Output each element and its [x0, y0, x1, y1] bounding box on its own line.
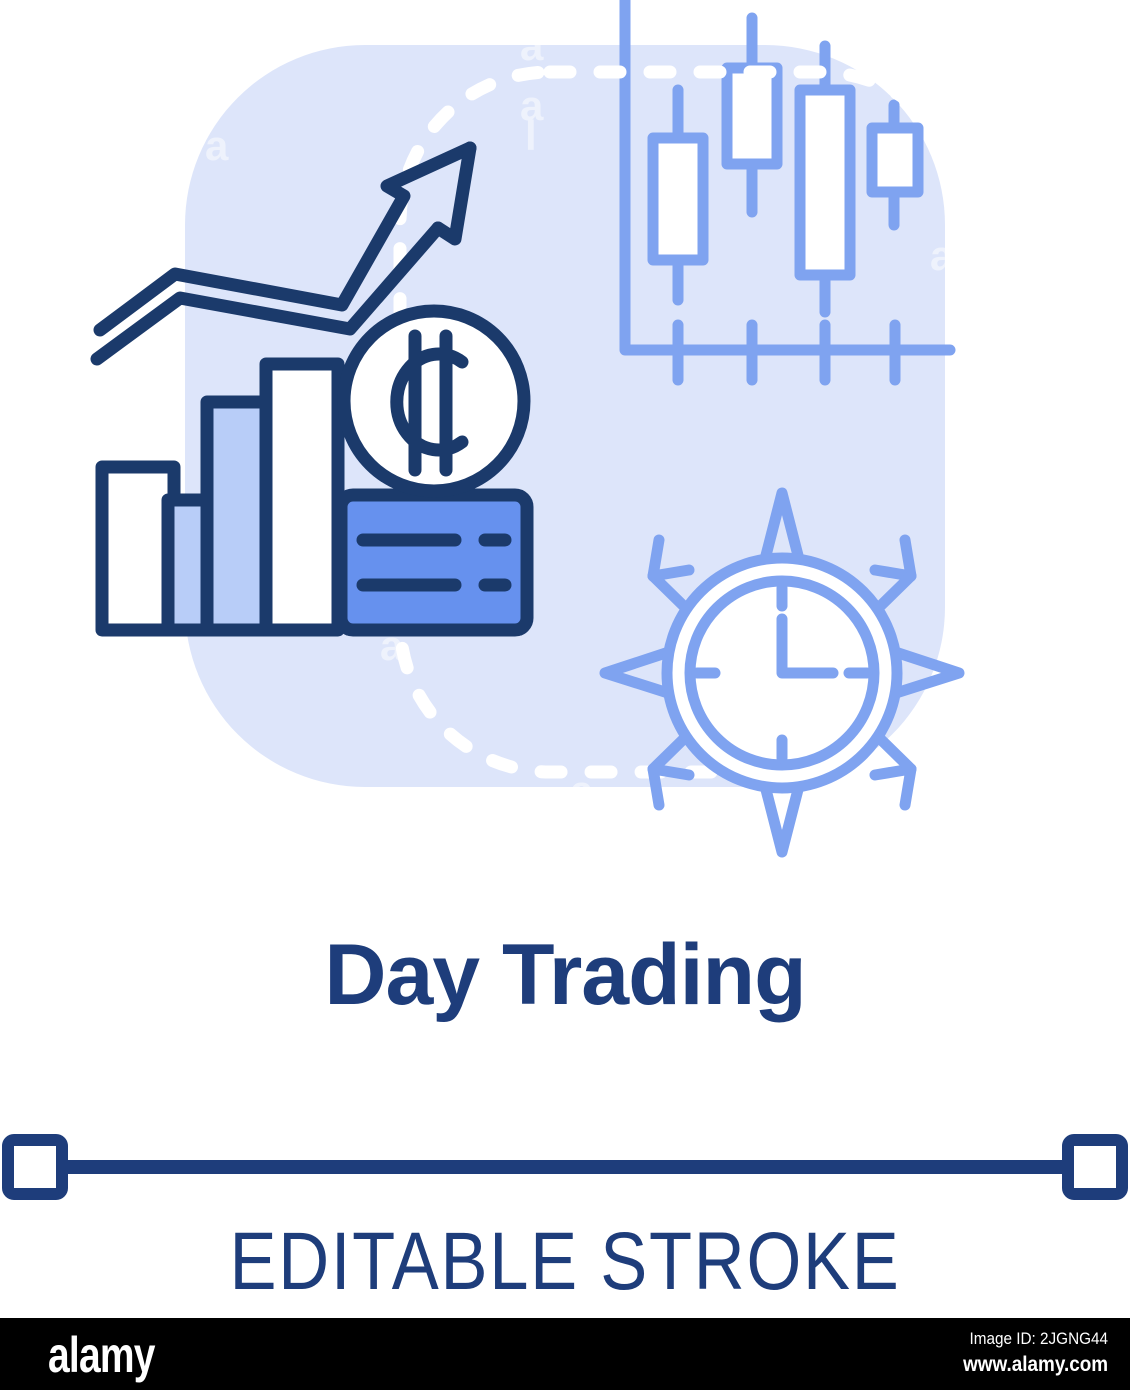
alamy-logo: alamy [48, 1326, 155, 1384]
candle-3 [800, 46, 850, 312]
editable-stroke-slider[interactable] [0, 1120, 1130, 1230]
poster-canvas: a a l a a a a a a a a [0, 0, 1130, 1390]
watermark-meta: Image ID: 2JGNG44 www.alamy.com [947, 1328, 1108, 1379]
coin-disc [344, 311, 524, 491]
bar-4 [266, 364, 338, 630]
bar-chart [102, 364, 338, 630]
svg-text:a: a [520, 22, 544, 69]
concept-illustration: a a l a a a a a a a a [0, 0, 1130, 900]
colon-currency-coin [344, 311, 524, 491]
watermark-bar: alamy Image ID: 2JGNG44 www.alamy.com [0, 1318, 1130, 1390]
alamy-url: www.alamy.com [963, 1351, 1108, 1379]
editable-stroke-caption: EDITABLE STROKE [79, 1215, 1051, 1309]
svg-text:a: a [155, 807, 179, 854]
slider-handle-right [1068, 1140, 1122, 1194]
slider-handle-left [8, 1140, 62, 1194]
page-title: Day Trading [0, 930, 1130, 1020]
svg-text:a: a [205, 122, 229, 169]
coin-stack [341, 495, 527, 630]
svg-text:a: a [520, 82, 544, 129]
svg-text:a: a [930, 232, 954, 279]
image-id-label: Image ID: 2JGNG44 [963, 1328, 1108, 1351]
